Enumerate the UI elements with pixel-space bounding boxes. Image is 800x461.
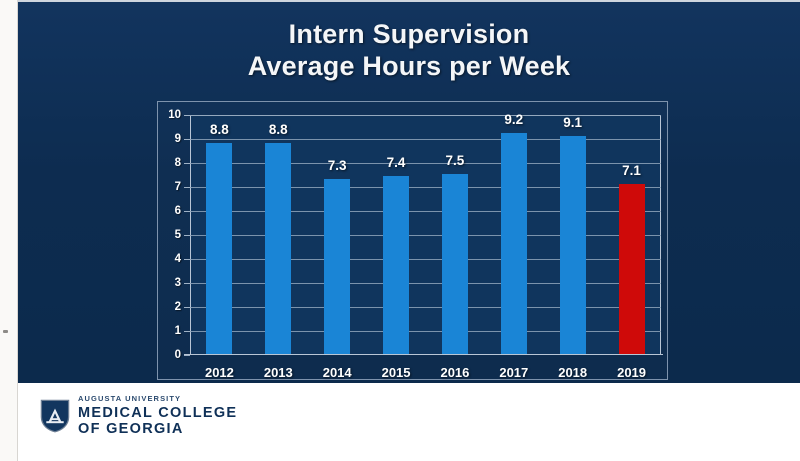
gridline [190,211,661,212]
bar-fill [265,143,291,354]
slide-title: Intern Supervision Average Hours per Wee… [18,18,800,82]
bar-2016[interactable]: 7.5 [442,174,468,354]
bar-2012[interactable]: 8.8 [206,143,232,354]
x-axis-label-2018: 2018 [558,365,587,380]
bar-fill [442,174,468,354]
x-axis-label-2016: 2016 [440,365,469,380]
gridline [190,307,661,308]
x-axis-label-2015: 2015 [382,365,411,380]
bar-2018[interactable]: 9.1 [560,136,586,354]
bar-fill [383,176,409,354]
logo-eyebrow: AUGUSTA UNIVERSITY [78,395,237,403]
bar-2014[interactable]: 7.3 [324,179,350,354]
y-axis-label: 7 [175,181,181,193]
bar-value-label: 8.8 [269,122,288,137]
gridline [190,259,661,260]
x-axis-line [184,354,663,355]
y-axis-tick [184,307,190,308]
y-axis-label: 1 [175,325,181,337]
y-axis-tick [184,163,190,164]
y-axis-tick [184,211,190,212]
bar-value-label: 7.4 [387,155,406,170]
bar-2019[interactable]: 7.1 [619,184,645,354]
y-axis-tick [184,187,190,188]
page-left-gutter [0,0,18,461]
bar-value-label: 7.5 [446,153,465,168]
x-axis-label-2014: 2014 [323,365,352,380]
screenshot-page: Intern Supervision Average Hours per Wee… [0,0,800,461]
logo-title: MEDICAL COLLEGE OF GEORGIA [78,406,237,437]
x-axis-label-2017: 2017 [499,365,528,380]
y-axis-label: 5 [175,229,181,241]
logo-title-line1: MEDICAL COLLEGE [78,405,237,421]
y-axis-tick [184,235,190,236]
y-axis-label: 4 [175,253,181,265]
bar-fill [324,179,350,354]
slide-title-line2: Average Hours per Week [18,50,800,82]
bar-value-label: 8.8 [210,122,229,137]
y-axis-label: 10 [168,109,181,121]
logo-text: AUGUSTA UNIVERSITY MEDICAL COLLEGE OF GE… [78,395,237,437]
gutter-marker [3,330,8,333]
y-axis-tick [184,259,190,260]
y-axis-tick [184,283,190,284]
slide-title-line1: Intern Supervision [289,19,530,49]
presentation-slide: Intern Supervision Average Hours per Wee… [18,0,800,383]
gridline [190,115,661,116]
y-axis-label: 3 [175,277,181,289]
gridline [190,331,661,332]
y-axis-label: 0 [175,349,181,361]
gridline [190,235,661,236]
bar-2015[interactable]: 7.4 [383,176,409,354]
x-axis-label-2019: 2019 [617,365,646,380]
bar-fill [619,184,645,354]
bar-fill [501,133,527,354]
gridline [190,187,661,188]
shield-icon [40,399,70,433]
x-axis-label-2012: 2012 [205,365,234,380]
gridline [190,283,661,284]
y-axis-tick [184,115,190,116]
x-axis-label-2013: 2013 [264,365,293,380]
gridline [190,139,661,140]
bar-value-label: 9.1 [563,115,582,130]
bar-fill [560,136,586,354]
bar-value-label: 9.2 [504,112,523,127]
y-axis-label: 8 [175,157,181,169]
y-axis-label: 2 [175,301,181,313]
bar-chart: 109876543210 8.88.87.37.47.59.29.17.1 20… [190,115,661,355]
y-axis-label: 9 [175,133,181,145]
y-axis-tick [184,139,190,140]
bar-2017[interactable]: 9.2 [501,133,527,354]
bar-value-label: 7.1 [622,163,641,178]
y-axis-label: 6 [175,205,181,217]
y-axis-tick [184,331,190,332]
bar-2013[interactable]: 8.8 [265,143,291,354]
organization-logo: AUGUSTA UNIVERSITY MEDICAL COLLEGE OF GE… [40,395,237,437]
bar-value-label: 7.3 [328,158,347,173]
logo-title-line2: OF GEORGIA [78,422,237,437]
gridline [190,163,661,164]
bar-fill [206,143,232,354]
y-axis-tick [184,355,190,356]
